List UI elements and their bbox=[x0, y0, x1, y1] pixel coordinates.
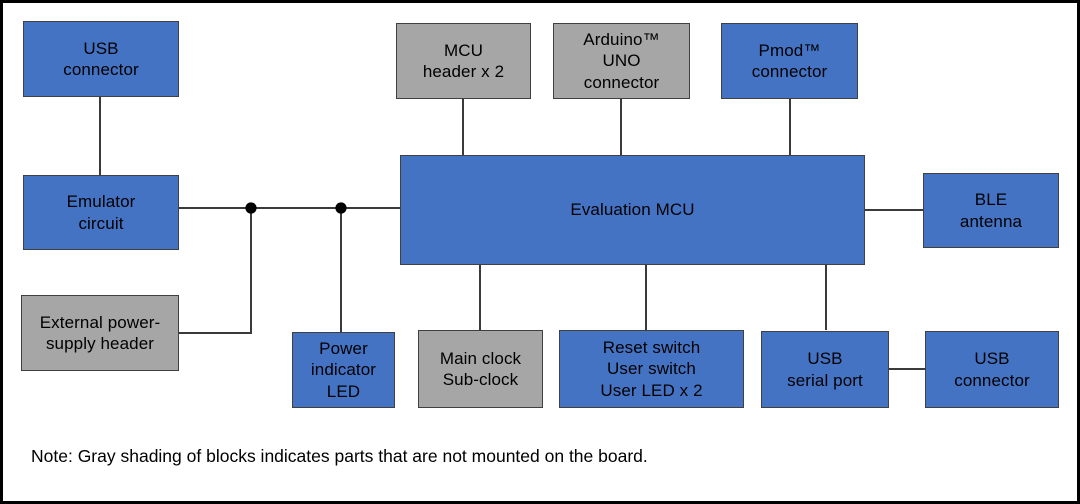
block-pmod-connector[interactable]: Pmod™ connector bbox=[721, 23, 858, 99]
legend-note: Note: Gray shading of blocks indicates p… bbox=[31, 446, 1031, 467]
block-power-indicator-led[interactable]: Power indicator LED bbox=[292, 332, 395, 408]
line-junction-to-external-power bbox=[178, 208, 251, 333]
block-diagram: USB connector Emulator circuit External … bbox=[0, 0, 1080, 504]
block-mcu-header[interactable]: MCU header x 2 bbox=[396, 23, 531, 99]
block-arduino-uno-connector[interactable]: Arduino™ UNO connector bbox=[553, 23, 690, 99]
block-switches-and-leds[interactable]: Reset switch User switch User LED x 2 bbox=[559, 330, 744, 408]
junction-dot-2 bbox=[335, 202, 346, 213]
block-ble-antenna[interactable]: BLE antenna bbox=[923, 173, 1059, 248]
block-main-clock-sub-clock[interactable]: Main clock Sub-clock bbox=[418, 330, 543, 408]
junction-dot-1 bbox=[245, 202, 256, 213]
block-usb-connector-bottom[interactable]: USB connector bbox=[925, 331, 1059, 408]
block-external-power-supply-header[interactable]: External power- supply header bbox=[21, 295, 179, 371]
block-usb-serial-port[interactable]: USB serial port bbox=[761, 331, 889, 408]
block-evaluation-mcu[interactable]: Evaluation MCU bbox=[400, 155, 865, 265]
block-usb-connector-top[interactable]: USB connector bbox=[23, 21, 179, 97]
block-emulator-circuit[interactable]: Emulator circuit bbox=[23, 175, 179, 250]
